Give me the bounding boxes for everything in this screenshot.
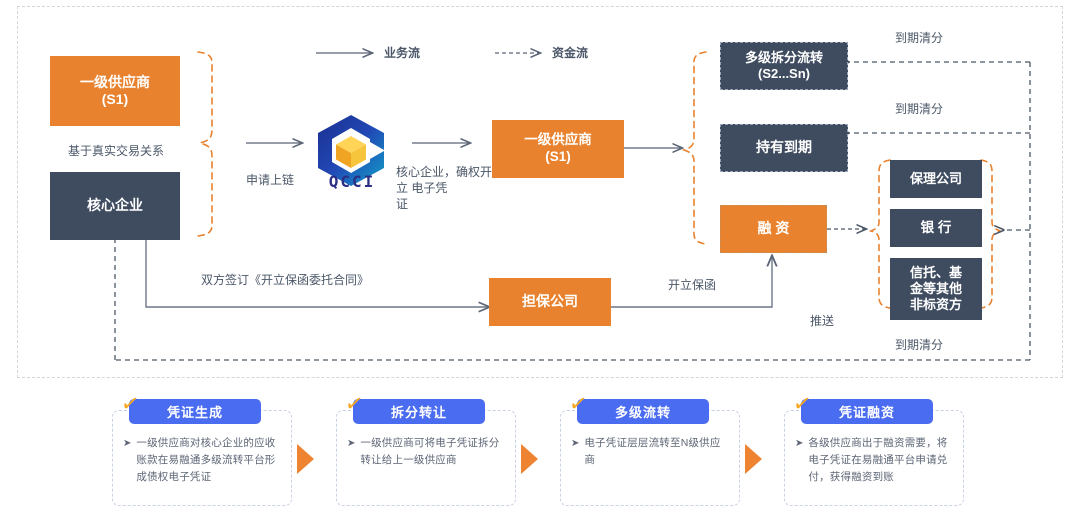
check-icon: ✓ (119, 390, 141, 418)
node-hold-to-maturity[interactable]: 持有到期 (720, 124, 848, 172)
node-supplier-s1-mid[interactable]: 一级供应商 (S1) (492, 120, 624, 178)
node-factoring-company[interactable]: 保理公司 (890, 160, 982, 198)
step-card-4-body: ➤ 各级供应商出于融资需要，将电子凭证在易融通平台申请兑付，获得融资到账 (795, 435, 955, 486)
step-arrow-2 (521, 444, 538, 474)
steps-row: 凭证生成 ✓ ➤ 一级供应商对核心企业的应收账款在易融通多级流转平台形成债权电子… (0, 396, 1080, 516)
qcci-wordmark: QCCI (306, 172, 398, 191)
label-real-trade-relation: 基于真实交易关系 (51, 143, 181, 159)
step-card-3-title: 多级流转 (615, 402, 671, 421)
bullet-icon: ➤ (347, 435, 355, 469)
step-card-3-body: ➤ 电子凭证层层流转至N级供应商 (571, 435, 731, 469)
step-card-2[interactable]: 拆分转让 ✓ ➤ 一级供应商可将电子凭证拆分转让给上一级供应商 (336, 410, 516, 506)
node-guarantee-company[interactable]: 担保公司 (489, 278, 611, 326)
step-card-3[interactable]: 多级流转 ✓ ➤ 电子凭证层层流转至N级供应商 (560, 410, 740, 506)
step-arrow-3 (745, 444, 762, 474)
legend-business-flow-label: 业务流 (384, 45, 420, 61)
step-card-2-text: 一级供应商可将电子凭证拆分转让给上一级供应商 (360, 435, 507, 469)
label-sign-guarantee-contract: 双方签订《开立保函委托合同》 (201, 272, 369, 288)
step-card-4[interactable]: 凭证融资 ✓ ➤ 各级供应商出于融资需要，将电子凭证在易融通平台申请兑付，获得融… (784, 410, 964, 506)
label-settle-at-maturity-3: 到期清分 (895, 337, 943, 353)
node-multi-level-split[interactable]: 多级拆分流转 (S2...Sn) (720, 42, 848, 90)
step-card-4-text: 各级供应商出于融资需要，将电子凭证在易融通平台申请兑付，获得融资到账 (808, 435, 955, 486)
bullet-icon: ➤ (123, 435, 131, 486)
bullet-icon: ➤ (795, 435, 803, 486)
step-card-2-title: 拆分转让 (391, 402, 447, 421)
label-issue-guarantee-letter: 开立保函 (668, 277, 716, 293)
step-card-3-text: 电子凭证层层流转至N级供应商 (584, 435, 731, 469)
step-card-4-header: 凭证融资 (801, 399, 933, 424)
step-card-1-title: 凭证生成 (167, 402, 223, 421)
step-card-1-text: 一级供应商对核心企业的应收账款在易融通多级流转平台形成债权电子凭证 (136, 435, 283, 486)
label-core-issue-voucher: 核心企业，确权开立 电子凭 证 (396, 164, 496, 213)
step-card-1-header: 凭证生成 (129, 399, 261, 424)
label-apply-onchain: 申请上链 (246, 172, 294, 188)
step-card-4-title: 凭证融资 (839, 402, 895, 421)
node-bank[interactable]: 银 行 (890, 209, 982, 247)
step-card-2-body: ➤ 一级供应商可将电子凭证拆分转让给上一级供应商 (347, 435, 507, 469)
node-nonstandard-funders[interactable]: 信托、基 金等其他 非标资方 (890, 258, 982, 320)
bullet-icon: ➤ (571, 435, 579, 469)
node-financing[interactable]: 融 资 (720, 205, 827, 253)
node-core-enterprise[interactable]: 核心企业 (50, 172, 180, 240)
legend-capital-flow-label: 资金流 (552, 45, 588, 61)
label-settle-at-maturity-2: 到期清分 (895, 101, 943, 117)
diagram-root: 业务流 资金流 一级供应商 (S1) 基于真实交易关系 核心企业 (0, 0, 1080, 516)
label-settle-at-maturity-1: 到期清分 (895, 30, 943, 46)
step-arrow-1 (297, 444, 314, 474)
check-icon: ✓ (567, 390, 589, 418)
label-push: 推送 (810, 313, 834, 329)
check-icon: ✓ (791, 390, 813, 418)
check-icon: ✓ (343, 390, 365, 418)
step-card-1[interactable]: 凭证生成 ✓ ➤ 一级供应商对核心企业的应收账款在易融通多级流转平台形成债权电子… (112, 410, 292, 506)
step-card-2-header: 拆分转让 (353, 399, 485, 424)
step-card-3-header: 多级流转 (577, 399, 709, 424)
step-card-1-body: ➤ 一级供应商对核心企业的应收账款在易融通多级流转平台形成债权电子凭证 (123, 435, 283, 486)
node-supplier-s1-left[interactable]: 一级供应商 (S1) (50, 56, 180, 126)
